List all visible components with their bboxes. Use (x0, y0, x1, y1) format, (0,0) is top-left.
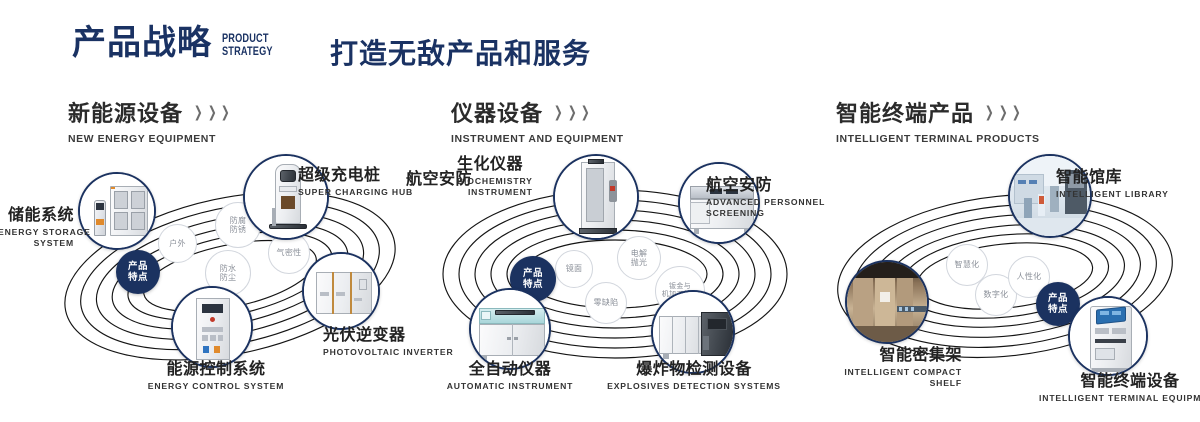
terminal-equipment-photo (1070, 298, 1146, 374)
label-energy-control-system: 能源控制系统 ENERGY CONTROL SYSTEM (126, 360, 306, 392)
cluster-intelligent-terminal: 智慧化 数字化 人性化 产品特点 (820, 158, 1200, 388)
compact-shelf-photo (847, 262, 927, 342)
node-energy-control-system[interactable] (171, 286, 253, 368)
node-photovoltaic-inverter[interactable] (302, 252, 380, 330)
node-intelligent-terminal-equipment[interactable] (1068, 296, 1148, 376)
inverter-photo (304, 254, 378, 328)
label-intelligent-terminal-equipment: 智能终端设备 INTELLIGENT TERMINAL EQUIPMENT (1030, 372, 1200, 404)
page-header: 产品战略 PRODUCT STRATEGY (72, 26, 285, 60)
page-title-en-line2: STRATEGY (222, 46, 273, 59)
label-automatic-instrument: 全自动仪器 AUTOMATIC INSTRUMENT (425, 360, 595, 392)
chevron-right-icon: ❯❯❯ (983, 105, 1023, 120)
automatic-instrument-photo (471, 290, 549, 368)
node-automatic-instrument[interactable] (469, 288, 551, 370)
page-title-en: PRODUCT STRATEGY (222, 33, 273, 58)
cluster-instrument: 镜面 电解抛光 零缺陷 钣金与机加工结合 产品特点 航空安防 (425, 158, 805, 388)
energy-storage-photo (80, 174, 154, 248)
feature-bubble: 户外 (158, 224, 197, 263)
node-energy-storage-system[interactable] (78, 172, 156, 250)
feature-bubble: 零缺陷 (585, 282, 627, 324)
chevron-right-icon: ❯❯❯ (552, 105, 592, 120)
feature-bubble: 镜面 (555, 250, 593, 288)
label-energy-storage-system: 储能系统 ENERGY STORAGESYSTEM (0, 206, 74, 249)
label-intelligent-library: 智能馆库 INTELLIGENT LIBRARY (1056, 168, 1169, 200)
section-heading-instrument: 仪器设备 ❯❯❯ INSTRUMENT AND EQUIPMENT (451, 96, 624, 145)
feature-bubble: 电解抛光 (617, 236, 661, 280)
section-title-cn: 仪器设备 (451, 96, 543, 128)
section-title-cn: 智能终端产品 (836, 96, 974, 128)
section-title-cn: 新能源设备 (68, 96, 183, 128)
label-intelligent-compact-shelf: 智能密集架 INTELLIGENT COMPACTSHELF (792, 346, 962, 389)
section-heading-intelligent-terminal: 智能终端产品 ❯❯❯ INTELLIGENT TERMINAL PRODUCTS (836, 96, 1040, 145)
section-title-en: INSTRUMENT AND EQUIPMENT (451, 133, 624, 145)
label-super-charging-hub: 超级充电桩 SUPER CHARGING HUB (298, 166, 413, 198)
label-explosives-detection-systems: 爆炸物检测设备 EXPLOSIVES DETECTION SYSTEMS (603, 360, 785, 392)
biochemistry-photo (555, 156, 637, 238)
control-system-photo (173, 288, 251, 366)
section-title-en: NEW ENERGY EQUIPMENT (68, 133, 232, 145)
page-title-en-line1: PRODUCT (222, 33, 273, 46)
node-biochemistry-instrument[interactable] (553, 154, 639, 240)
core-bubble-product-features: 产品特点 (116, 250, 160, 294)
page-subtitle: 打造无敌产品和服务 (330, 32, 591, 72)
chevron-right-icon: ❯❯❯ (192, 105, 232, 120)
node-intelligent-compact-shelf[interactable] (845, 260, 929, 344)
section-title-en: INTELLIGENT TERMINAL PRODUCTS (836, 133, 1040, 145)
page-title-cn: 产品战略 (72, 26, 212, 60)
product-strategy-infographic: 产品战略 PRODUCT STRATEGY 打造无敌产品和服务 新能源设备 ❯❯… (0, 0, 1200, 422)
cluster-new-energy: 户外 防腐防锈 防水防尘 气密性 产品特点 (40, 158, 420, 388)
label-advanced-personnel-screening: 航空安防 ADVANCED PERSONNELSCREENING (706, 176, 825, 219)
section-heading-new-energy: 新能源设备 ❯❯❯ NEW ENERGY EQUIPMENT (68, 96, 232, 145)
label-biochemistry-instrument: 生化仪器 BIOCHEMISTRYINSTRUMENT (457, 155, 533, 198)
